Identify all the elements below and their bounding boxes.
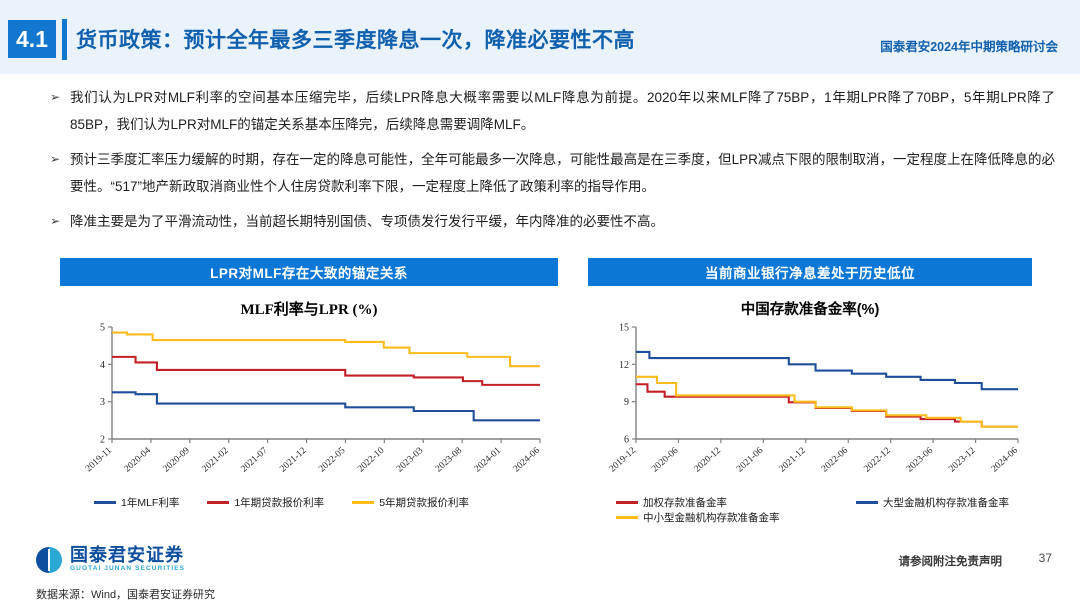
svg-text:2022-10: 2022-10 <box>356 446 386 475</box>
chart-panel-left: LPR对MLF存在大致的锚定关系 MLF利率与LPR (%) 23452019-… <box>60 258 558 510</box>
section-number-badge: 4.1 <box>8 20 56 58</box>
chart-plot-right: 6912152019-122020-062020-122021-062021-1… <box>588 321 1032 491</box>
logo-text: 国泰君安证券 GUOTAI JUNAN SECURITIES <box>70 546 185 573</box>
svg-text:5: 5 <box>100 323 105 334</box>
legend-row: 中小型金融机构存款准备金率 <box>616 510 1032 525</box>
legend-label: 5年期贷款报价利率 <box>379 495 469 510</box>
legend-label: 中小型金融机构存款准备金率 <box>643 510 780 525</box>
legend-label: 大型金融机构存款准备金率 <box>883 495 1009 510</box>
svg-text:2024-06: 2024-06 <box>990 446 1020 475</box>
bullet-arrow-icon: ➢ <box>50 208 60 235</box>
legend-item: 1年期贷款报价利率 <box>207 495 324 510</box>
list-item: ➢ 我们认为LPR对MLF利率的空间基本压缩完毕，后续LPR降息大概率需要以ML… <box>50 84 1055 138</box>
legend-item: 加权存款准备金率 <box>616 495 856 510</box>
svg-text:2021-06: 2021-06 <box>735 446 765 475</box>
chart-plot-left: 23452019-112020-042020-092021-022021-072… <box>60 321 558 491</box>
legend-item: 1年MLF利率 <box>94 495 179 510</box>
svg-text:2: 2 <box>100 435 105 446</box>
svg-text:2020-06: 2020-06 <box>650 446 680 475</box>
legend-swatch <box>856 501 878 504</box>
chart-legend-right: 加权存款准备金率 大型金融机构存款准备金率 中小型金融机构存款准备金率 <box>588 495 1032 525</box>
svg-text:3: 3 <box>100 397 105 408</box>
bullet-arrow-icon: ➢ <box>50 84 60 111</box>
legend-swatch <box>616 501 638 504</box>
legend-item: 大型金融机构存款准备金率 <box>856 495 1009 510</box>
svg-text:2023-08: 2023-08 <box>434 446 464 475</box>
disclaimer-note: 请参阅附注免责声明 <box>899 553 1003 569</box>
list-item: ➢ 降准主要是为了平滑流动性，当前超长期特别国债、专项债发行发行平缓，年内降准的… <box>50 208 1055 235</box>
source-note: 数据来源：Wind，国泰君安证券研究 <box>36 586 215 602</box>
chart-legend-left: 1年MLF利率 1年期贷款报价利率 5年期贷款报价利率 <box>60 495 558 510</box>
slide: 4.1 货币政策：预计全年最多三季度降息一次，降准必要性不高 国泰君安2024年… <box>0 0 1080 606</box>
svg-text:2022-12: 2022-12 <box>862 446 892 475</box>
svg-text:9: 9 <box>624 397 629 408</box>
svg-text:2023-12: 2023-12 <box>947 446 977 475</box>
legend-swatch <box>207 501 229 504</box>
bullet-text: 我们认为LPR对MLF利率的空间基本压缩完毕，后续LPR降息大概率需要以MLF降… <box>70 90 1055 132</box>
bullet-text: 降准主要是为了平滑流动性，当前超长期特别国债、专项债发行发行平缓，年内降准的必要… <box>70 214 664 229</box>
svg-text:2022-05: 2022-05 <box>317 446 347 475</box>
chart-svg-right: 6912152019-122020-062020-122021-062021-1… <box>588 321 1032 491</box>
chart-panel-right: 当前商业银行净息差处于历史低位 中国存款准备金率(%) 6912152019-1… <box>588 258 1032 525</box>
svg-text:2019-12: 2019-12 <box>608 446 638 475</box>
svg-text:6: 6 <box>624 435 629 446</box>
event-name: 国泰君安2024年中期策略研讨会 <box>880 36 1058 55</box>
svg-text:2021-12: 2021-12 <box>278 446 308 475</box>
list-item: ➢ 预计三季度汇率压力缓解的时期，存在一定的降息可能性，全年可能最多一次降息，可… <box>50 146 1055 200</box>
chart-title-right: 中国存款准备金率(%) <box>588 298 1032 319</box>
chart-title-left: MLF利率与LPR (%) <box>60 298 558 319</box>
chart-panel-right-body: 中国存款准备金率(%) 6912152019-122020-062020-122… <box>588 286 1032 525</box>
svg-text:2020-04: 2020-04 <box>123 446 153 475</box>
legend-label: 1年MLF利率 <box>121 495 179 510</box>
title-divider-rule <box>62 19 67 60</box>
bullet-arrow-icon: ➢ <box>50 146 60 173</box>
svg-text:12: 12 <box>619 360 629 371</box>
bullet-list: ➢ 我们认为LPR对MLF利率的空间基本压缩完毕，后续LPR降息大概率需要以ML… <box>50 84 1055 243</box>
logo-text-en: GUOTAI JUNAN SECURITIES <box>70 564 185 573</box>
legend-label: 加权存款准备金率 <box>643 495 727 510</box>
logo-circle-icon <box>36 547 62 573</box>
page-number: 37 <box>1039 551 1052 565</box>
svg-text:2024-01: 2024-01 <box>473 446 503 475</box>
legend-swatch <box>352 501 374 504</box>
chart-svg-left: 23452019-112020-042020-092021-022021-072… <box>60 321 558 491</box>
svg-text:2021-12: 2021-12 <box>778 446 808 475</box>
chart-panel-right-header: 当前商业银行净息差处于历史低位 <box>588 258 1032 286</box>
svg-text:2024-06: 2024-06 <box>512 446 542 475</box>
chart-panel-left-body: MLF利率与LPR (%) 23452019-112020-042020-092… <box>60 286 558 510</box>
page-title: 货币政策：预计全年最多三季度降息一次，降准必要性不高 <box>76 24 635 54</box>
svg-text:2023-06: 2023-06 <box>905 446 935 475</box>
legend-item: 中小型金融机构存款准备金率 <box>616 510 780 525</box>
legend-row: 1年MLF利率 1年期贷款报价利率 5年期贷款报价利率 <box>94 495 558 510</box>
legend-swatch <box>94 501 116 504</box>
svg-text:2023-03: 2023-03 <box>395 446 425 475</box>
company-logo: 国泰君安证券 GUOTAI JUNAN SECURITIES <box>36 546 185 573</box>
svg-text:2020-09: 2020-09 <box>162 446 192 475</box>
svg-text:2019-11: 2019-11 <box>84 446 114 475</box>
bullet-text: 预计三季度汇率压力缓解的时期，存在一定的降息可能性，全年可能最多一次降息，可能性… <box>70 152 1055 194</box>
svg-text:2021-02: 2021-02 <box>201 446 231 475</box>
svg-text:2020-12: 2020-12 <box>693 446 723 475</box>
svg-text:4: 4 <box>100 360 105 371</box>
svg-text:15: 15 <box>619 323 629 334</box>
chart-panel-left-header: LPR对MLF存在大致的锚定关系 <box>60 258 558 286</box>
legend-label: 1年期贷款报价利率 <box>234 495 324 510</box>
svg-text:2022-06: 2022-06 <box>820 446 850 475</box>
svg-text:2021-07: 2021-07 <box>239 446 269 475</box>
logo-text-cn: 国泰君安证券 <box>70 546 185 564</box>
legend-item: 5年期贷款报价利率 <box>352 495 469 510</box>
legend-swatch <box>616 516 638 519</box>
legend-row: 加权存款准备金率 大型金融机构存款准备金率 <box>616 495 1032 510</box>
